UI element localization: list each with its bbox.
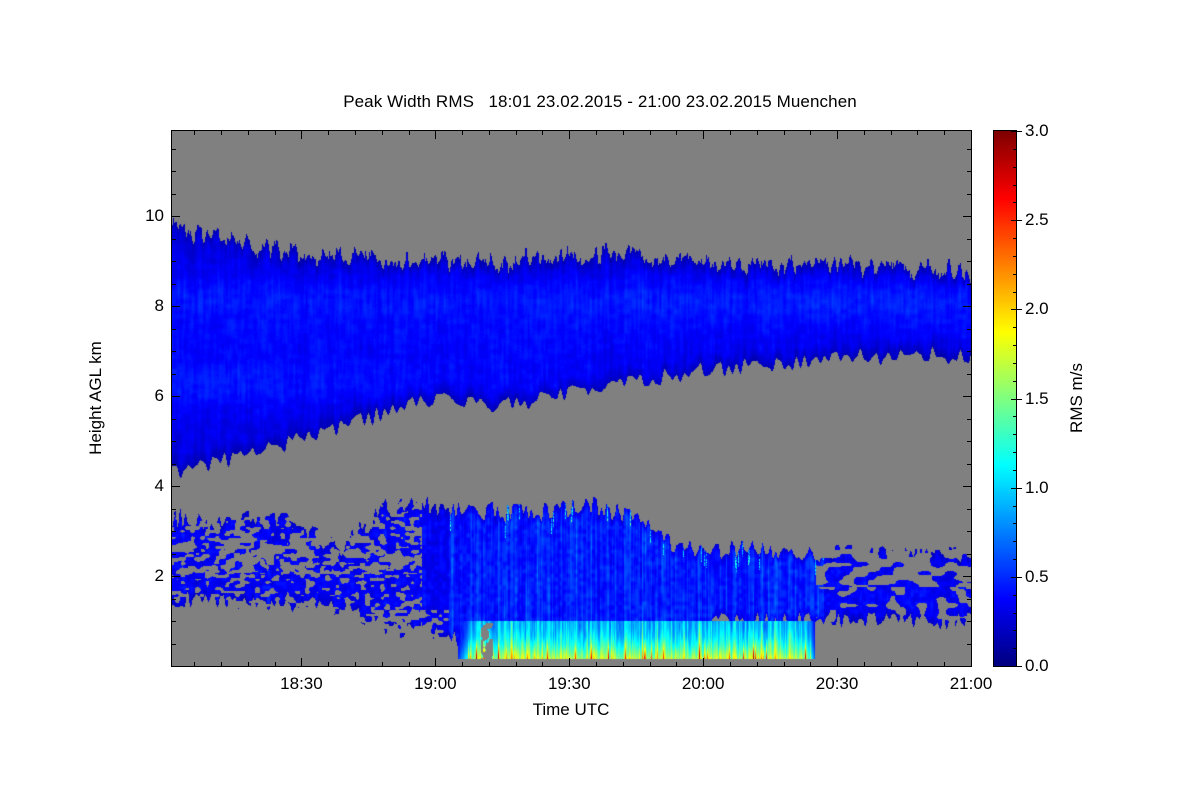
axis-tick bbox=[944, 131, 945, 135]
axis-tick bbox=[516, 662, 517, 666]
colorbar-tick-label: 0.0 bbox=[1025, 656, 1049, 676]
axis-tick bbox=[275, 131, 276, 135]
axis-tick bbox=[967, 329, 971, 330]
axis-tick bbox=[623, 131, 624, 135]
axis-tick bbox=[784, 662, 785, 666]
axis-tick bbox=[194, 662, 195, 666]
axis-tick bbox=[967, 644, 971, 645]
colorbar-tick-label: 3.0 bbox=[1025, 121, 1049, 141]
axis-tick bbox=[172, 374, 176, 375]
axis-tick bbox=[248, 662, 249, 666]
axis-tick bbox=[1017, 309, 1022, 310]
axis-tick bbox=[301, 131, 302, 139]
axis-tick bbox=[569, 131, 570, 139]
axis-tick bbox=[1011, 488, 1016, 489]
axis-tick bbox=[1013, 256, 1016, 257]
axis-tick bbox=[971, 131, 972, 139]
axis-tick bbox=[172, 351, 176, 352]
axis-tick bbox=[967, 239, 971, 240]
axis-tick bbox=[967, 554, 971, 555]
axis-tick bbox=[1013, 559, 1016, 560]
axis-tick bbox=[1017, 577, 1022, 578]
axis-tick bbox=[435, 658, 436, 666]
axis-tick bbox=[355, 131, 356, 135]
axis-tick bbox=[1013, 506, 1016, 507]
axis-tick bbox=[1013, 648, 1016, 649]
axis-tick bbox=[382, 131, 383, 135]
axis-tick bbox=[409, 131, 410, 135]
axis-tick bbox=[676, 131, 677, 135]
axis-tick bbox=[784, 131, 785, 135]
y-axis-label: Height AGL km bbox=[86, 341, 106, 455]
axis-tick bbox=[1013, 452, 1016, 453]
heatmap-image bbox=[172, 131, 971, 666]
axis-tick bbox=[810, 662, 811, 666]
axis-tick bbox=[596, 662, 597, 666]
axis-tick bbox=[1013, 149, 1016, 150]
heatmap-axes bbox=[171, 130, 972, 667]
axis-tick bbox=[967, 621, 971, 622]
axis-tick bbox=[967, 149, 971, 150]
axis-tick bbox=[172, 666, 176, 667]
axis-tick bbox=[462, 662, 463, 666]
colorbar-tick-label: 1.5 bbox=[1025, 389, 1049, 409]
colorbar-tick-label: 2.0 bbox=[1025, 299, 1049, 319]
axis-tick bbox=[1013, 470, 1016, 471]
axis-tick bbox=[967, 284, 971, 285]
axis-tick bbox=[944, 662, 945, 666]
axis-tick bbox=[1011, 309, 1016, 310]
axis-tick bbox=[917, 131, 918, 135]
axis-tick bbox=[172, 149, 176, 150]
axis-tick bbox=[328, 662, 329, 666]
axis-tick bbox=[967, 374, 971, 375]
axis-tick bbox=[1017, 399, 1022, 400]
axis-tick bbox=[221, 662, 222, 666]
axis-tick bbox=[757, 662, 758, 666]
axis-tick bbox=[1017, 488, 1022, 489]
axis-tick bbox=[864, 662, 865, 666]
axis-tick bbox=[1013, 363, 1016, 364]
axis-tick bbox=[172, 216, 180, 217]
axis-tick bbox=[1013, 613, 1016, 614]
axis-tick bbox=[1013, 185, 1016, 186]
axis-tick bbox=[963, 216, 971, 217]
axis-tick bbox=[703, 658, 704, 666]
axis-tick bbox=[730, 662, 731, 666]
axis-tick bbox=[1013, 630, 1016, 631]
axis-tick bbox=[1013, 327, 1016, 328]
axis-tick bbox=[172, 329, 176, 330]
axis-tick bbox=[221, 131, 222, 135]
axis-tick bbox=[1013, 274, 1016, 275]
axis-tick bbox=[1013, 202, 1016, 203]
axis-tick bbox=[967, 261, 971, 262]
axis-tick bbox=[172, 396, 180, 397]
x-tick-label: 18:30 bbox=[280, 674, 323, 694]
axis-tick bbox=[1013, 345, 1016, 346]
axis-tick bbox=[891, 131, 892, 135]
axis-tick bbox=[891, 662, 892, 666]
axis-tick bbox=[1011, 220, 1016, 221]
axis-tick bbox=[172, 194, 176, 195]
axis-tick bbox=[650, 131, 651, 135]
y-tick-label: 10 bbox=[126, 206, 164, 226]
x-tick-label: 20:00 bbox=[682, 674, 725, 694]
y-tick-label: 8 bbox=[126, 296, 164, 316]
axis-tick bbox=[967, 441, 971, 442]
axis-tick bbox=[703, 131, 704, 139]
axis-tick bbox=[1013, 416, 1016, 417]
axis-tick bbox=[172, 486, 180, 487]
axis-tick bbox=[172, 554, 176, 555]
axis-tick bbox=[1017, 220, 1022, 221]
axis-tick bbox=[194, 131, 195, 135]
axis-tick bbox=[172, 171, 176, 172]
axis-tick bbox=[967, 194, 971, 195]
axis-tick bbox=[1013, 523, 1016, 524]
axis-tick bbox=[1017, 131, 1022, 132]
axis-tick bbox=[676, 662, 677, 666]
axis-tick bbox=[757, 131, 758, 135]
axis-tick bbox=[172, 441, 176, 442]
axis-tick bbox=[172, 644, 176, 645]
axis-tick bbox=[623, 662, 624, 666]
axis-tick bbox=[967, 531, 971, 532]
colorbar-tick-label: 1.0 bbox=[1025, 478, 1049, 498]
x-axis-label: Time UTC bbox=[171, 700, 971, 720]
axis-tick bbox=[172, 509, 176, 510]
axis-tick bbox=[837, 131, 838, 139]
y-tick-label: 6 bbox=[126, 386, 164, 406]
axis-tick bbox=[1013, 238, 1016, 239]
axis-tick bbox=[864, 131, 865, 135]
axis-tick bbox=[971, 658, 972, 666]
axis-tick bbox=[172, 284, 176, 285]
colorbar-axis-label: RMS m/s bbox=[1067, 363, 1087, 433]
axis-tick bbox=[172, 576, 180, 577]
axis-tick bbox=[1013, 595, 1016, 596]
axis-tick bbox=[967, 464, 971, 465]
axis-tick bbox=[1017, 666, 1022, 667]
axis-tick bbox=[489, 662, 490, 666]
axis-tick bbox=[1011, 131, 1016, 132]
axis-tick bbox=[569, 658, 570, 666]
axis-tick bbox=[963, 576, 971, 577]
axis-tick bbox=[967, 666, 971, 667]
axis-tick bbox=[730, 131, 731, 135]
axis-tick bbox=[1013, 381, 1016, 382]
x-tick-label: 21:00 bbox=[950, 674, 993, 694]
axis-tick bbox=[382, 662, 383, 666]
colorbar-tick-label: 0.5 bbox=[1025, 567, 1049, 587]
page-title: Peak Width RMS 18:01 23.02.2015 - 21:00 … bbox=[0, 92, 1200, 112]
axis-tick bbox=[435, 131, 436, 139]
axis-tick bbox=[301, 658, 302, 666]
axis-tick bbox=[248, 131, 249, 135]
axis-tick bbox=[172, 419, 176, 420]
axis-tick bbox=[542, 131, 543, 135]
axis-tick bbox=[172, 621, 176, 622]
axis-tick bbox=[917, 662, 918, 666]
x-tick-label: 19:00 bbox=[414, 674, 457, 694]
axis-tick bbox=[1013, 292, 1016, 293]
axis-tick bbox=[172, 239, 176, 240]
axis-tick bbox=[1011, 666, 1016, 667]
axis-tick bbox=[596, 131, 597, 135]
axis-tick bbox=[837, 658, 838, 666]
axis-tick bbox=[967, 351, 971, 352]
x-tick-label: 20:30 bbox=[816, 674, 859, 694]
x-tick-label: 19:30 bbox=[548, 674, 591, 694]
axis-tick bbox=[172, 261, 176, 262]
axis-tick bbox=[462, 131, 463, 135]
axis-tick bbox=[275, 662, 276, 666]
axis-tick bbox=[1013, 434, 1016, 435]
axis-tick bbox=[172, 306, 180, 307]
axis-tick bbox=[409, 662, 410, 666]
axis-tick bbox=[172, 531, 176, 532]
axis-tick bbox=[963, 396, 971, 397]
axis-tick bbox=[516, 131, 517, 135]
axis-tick bbox=[355, 662, 356, 666]
axis-tick bbox=[1013, 167, 1016, 168]
axis-tick bbox=[489, 131, 490, 135]
axis-tick bbox=[650, 662, 651, 666]
axis-tick bbox=[1011, 399, 1016, 400]
axis-tick bbox=[963, 486, 971, 487]
axis-tick bbox=[963, 306, 971, 307]
axis-tick bbox=[1013, 541, 1016, 542]
axis-tick bbox=[172, 464, 176, 465]
axis-tick bbox=[172, 599, 176, 600]
colorbar-tick-label: 2.5 bbox=[1025, 210, 1049, 230]
axis-tick bbox=[1011, 577, 1016, 578]
axis-tick bbox=[967, 171, 971, 172]
axis-tick bbox=[967, 419, 971, 420]
axis-tick bbox=[328, 131, 329, 135]
axis-tick bbox=[542, 662, 543, 666]
axis-tick bbox=[967, 509, 971, 510]
axis-tick bbox=[810, 131, 811, 135]
axis-tick bbox=[967, 599, 971, 600]
y-tick-label: 4 bbox=[126, 476, 164, 496]
figure-canvas: Peak Width RMS 18:01 23.02.2015 - 21:00 … bbox=[0, 0, 1200, 800]
y-tick-label: 2 bbox=[126, 566, 164, 586]
